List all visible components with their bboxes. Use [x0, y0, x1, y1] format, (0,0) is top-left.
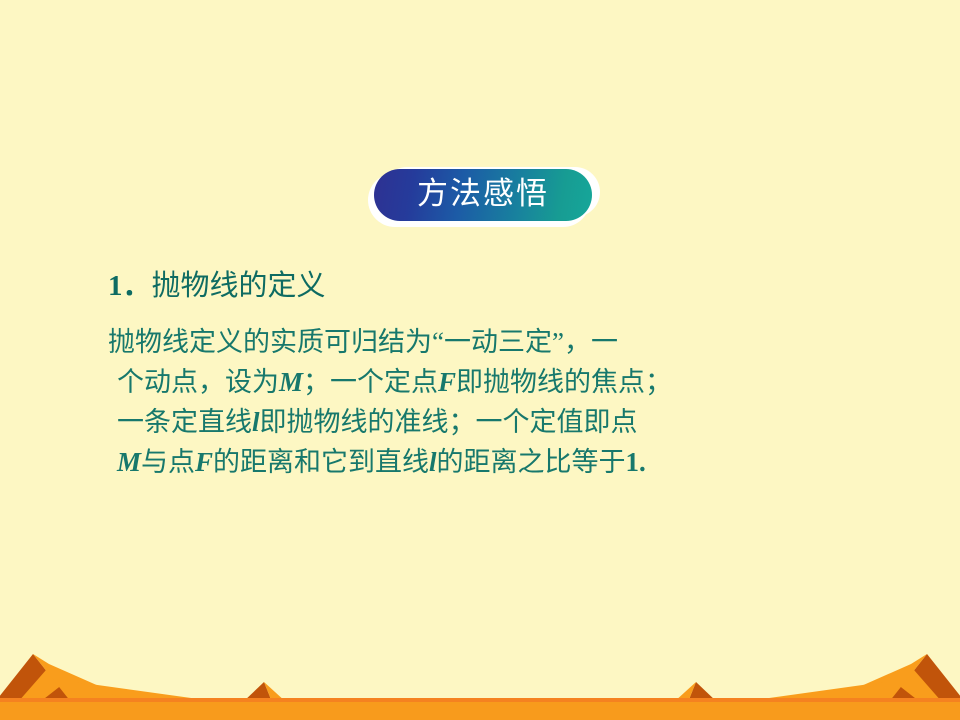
math-variable-l: l — [252, 407, 260, 437]
content-block: 1．抛物线的定义 抛物线定义的实质可归结为“一动三定”，一个动点，设为M；一个定… — [108, 268, 878, 482]
math-number: 1. — [626, 447, 646, 477]
section-heading-text: 抛物线的定义 — [152, 270, 326, 302]
mountain-right-slope — [825, 654, 927, 702]
body-text-segment: 抛物线定义的实质可归结为“一动三定”，一 — [108, 327, 618, 357]
body-text-segment: ；一个定点 — [303, 367, 438, 397]
body-line-3: 一条定直线l即抛物线的准线；一个定值即点 — [108, 402, 878, 442]
body-line-2: 个动点，设为M；一个定点F即抛物线的焦点； — [108, 362, 878, 402]
body-text-segment: 一条定直线 — [117, 407, 252, 437]
section-heading-number: 1． — [108, 270, 152, 302]
mountain-right-back — [889, 654, 960, 702]
body-line-4: M与点F的距离和它到直线l的距离之比等于1. — [108, 442, 878, 482]
math-variable-l: l — [429, 447, 437, 477]
body-text-segment: 即抛物线的准线；一个定值即点 — [260, 407, 638, 437]
title-banner: 方法感悟 — [368, 167, 600, 229]
slide-canvas: 方法感悟 1．抛物线的定义 抛物线定义的实质可归结为“一动三定”，一个动点，设为… — [0, 0, 960, 720]
body-line-1: 抛物线定义的实质可归结为“一动三定”，一 — [108, 322, 878, 362]
section-heading: 1．抛物线的定义 — [108, 268, 878, 304]
math-variable-F: F — [195, 447, 213, 477]
mountain-decoration-icon — [0, 642, 960, 702]
body-text-segment: 与点 — [141, 447, 195, 477]
math-variable-M: M — [279, 367, 303, 397]
body-text-segment: 个动点，设为 — [117, 367, 279, 397]
math-variable-F: F — [438, 367, 456, 397]
bottom-bar — [0, 702, 960, 720]
math-variable-M: M — [117, 447, 141, 477]
body-text-segment: 的距离和它到直线 — [213, 447, 429, 477]
mountain-left-back — [0, 654, 71, 702]
banner-pill: 方法感悟 — [374, 169, 592, 221]
body-paragraph: 抛物线定义的实质可归结为“一动三定”，一个动点，设为M；一个定点F即抛物线的焦点… — [108, 322, 878, 482]
body-text-segment: 即抛物线的焦点； — [456, 367, 672, 397]
body-text-segment: 的距离之比等于 — [437, 447, 626, 477]
banner-label: 方法感悟 — [417, 179, 549, 212]
mountain-left-slope — [33, 654, 135, 702]
